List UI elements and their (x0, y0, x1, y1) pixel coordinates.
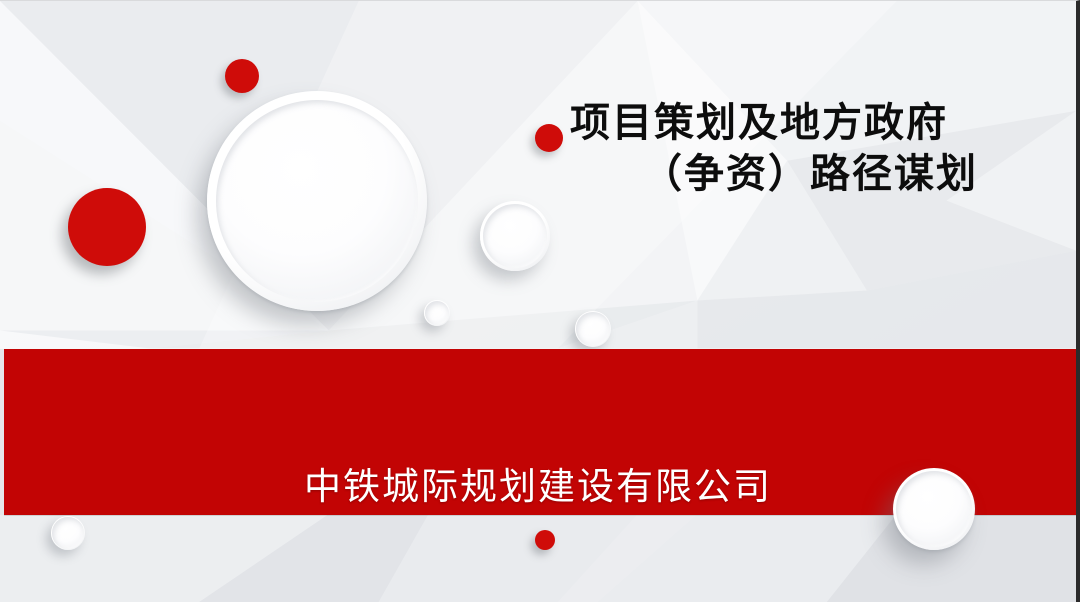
slide-subtitle-company: 中铁城际规划建设有限公司 (0, 456, 1076, 510)
red-dot-bottom-icon (535, 530, 555, 550)
title-slide: 项目策划及地方政府 （争资）路径谋划 中铁城际规划建设有限公司 (0, 0, 1080, 602)
white-disc-tiny-icon (424, 300, 450, 326)
red-circle-large-left-icon (68, 188, 146, 266)
slide-title-line-2: （争资）路径谋划 (568, 148, 1038, 199)
white-disc-small-band-icon (575, 311, 611, 347)
white-disc-medium-inner (483, 204, 547, 268)
slide-title: 项目策划及地方政府 （争资）路径谋划 (568, 97, 1038, 199)
white-ring-large-icon (207, 91, 427, 311)
white-ring-large-inner (216, 100, 418, 302)
white-disc-bottom-left-icon (51, 516, 85, 550)
red-circle-title-bullet-icon (535, 124, 563, 152)
slide-title-line-1: 项目策划及地方政府 (568, 97, 1038, 148)
white-disc-tiny-inner (425, 301, 449, 325)
white-disc-medium-icon (480, 201, 550, 271)
red-circle-small-top-icon (225, 59, 259, 93)
white-disc-bottom-left-inner (52, 517, 83, 548)
white-disc-small-band-inner (576, 312, 609, 345)
